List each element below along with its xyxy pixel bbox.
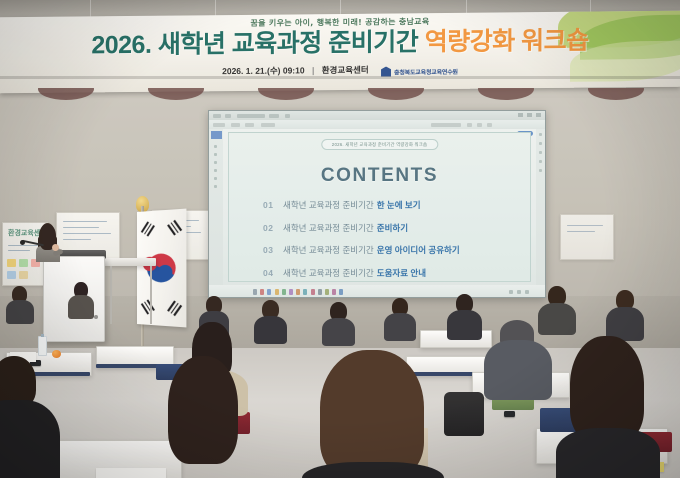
cursor-icon <box>253 289 257 295</box>
slide-canvas: 2026. 새학년 교육과정 준비기간 역량강화 워크숍 CONTENTS 01… <box>228 132 531 282</box>
toc-text: 새학년 교육과정 준비기간 <box>283 244 374 256</box>
trigram-geon <box>141 221 155 236</box>
window-controls[interactable] <box>518 113 541 117</box>
toc-text: 새학년 교육과정 준비기간 <box>283 267 374 279</box>
right-tool-pane[interactable] <box>536 129 545 285</box>
trigram-gon <box>167 300 182 316</box>
app-status-bar[interactable] <box>209 285 545 297</box>
orange-fruit <box>52 350 61 358</box>
app-menu-bar[interactable] <box>209 111 545 120</box>
toc-text: 새학년 교육과정 준비기간 <box>283 222 374 234</box>
phone <box>504 411 515 417</box>
korean-flag-icon <box>137 209 186 328</box>
chart-icon <box>289 289 293 295</box>
slide-title: CONTENTS <box>229 165 530 187</box>
table-of-contents: 01 새학년 교육과정 준비기간 한 눈에 보기 02 새학년 교육과정 준비기… <box>263 199 510 289</box>
status-tool-icons[interactable] <box>253 289 343 295</box>
banner-title-primary: 2026. 새학년 교육과정 준비기간 <box>91 28 418 59</box>
view-normal-icon <box>509 290 513 294</box>
workshop-photo-scene: 꿈을 키우는 아이, 행복한 미래! 공감하는 충남교육 2026. 새학년 교… <box>0 0 680 478</box>
poster-far-right <box>560 214 614 260</box>
table-icon <box>282 289 286 295</box>
trigram-ri <box>141 299 155 314</box>
minimize-icon[interactable] <box>518 113 523 117</box>
media-icon <box>296 289 300 295</box>
grid-icon <box>339 289 343 295</box>
projection-screen: 2026. 새학년 교육과정 준비기간 역량강화 워크숍 CONTENTS 01… <box>208 110 546 298</box>
effect-icon <box>332 289 336 295</box>
toc-text: 새학년 교육과정 준비기간 <box>283 199 374 211</box>
curtain-valance <box>0 88 680 104</box>
color-icon <box>325 289 329 295</box>
close-icon[interactable] <box>536 113 541 117</box>
slide-header-badge: 2026. 새학년 교육과정 준비기간 역량강화 워크숍 <box>321 139 438 150</box>
line-icon <box>318 289 322 295</box>
organization-logo: 충청북도교육청교육연수원 <box>381 66 458 77</box>
side-table <box>104 258 156 266</box>
toc-accent: 운영 아이디어 공유하기 <box>377 244 460 256</box>
projected-application: 2026. 새학년 교육과정 준비기간 역량강화 워크숍 CONTENTS 01… <box>209 111 545 297</box>
podium-indicator <box>94 315 98 319</box>
app-ribbon-toolbar[interactable] <box>209 120 545 129</box>
trigram-gam <box>167 220 182 236</box>
slide-thumbnail-active[interactable] <box>211 131 222 139</box>
banner-separator: | <box>312 65 314 75</box>
toc-accent: 도움자료 안내 <box>377 267 426 279</box>
toc-number: 02 <box>263 223 283 233</box>
view-sorter-icon <box>517 290 521 294</box>
banner-shadow-edge <box>0 76 680 79</box>
toc-number: 03 <box>263 245 283 255</box>
banner-title: 2026. 새학년 교육과정 준비기간 역량강화 워크숍 <box>0 28 680 60</box>
backpack <box>444 392 484 436</box>
toc-accent: 한 눈에 보기 <box>377 199 421 211</box>
event-banner: 꿈을 키우는 아이, 행복한 미래! 공감하는 충남교육 2026. 새학년 교… <box>0 11 680 94</box>
link-icon <box>303 289 307 295</box>
status-right-icons[interactable] <box>509 290 529 294</box>
text-icon <box>267 289 271 295</box>
toc-accent: 준비하기 <box>377 222 408 234</box>
list-item: 01 새학년 교육과정 준비기간 한 눈에 보기 <box>263 199 510 211</box>
list-item: 04 새학년 교육과정 준비기간 도움자료 안내 <box>263 267 510 279</box>
notebook <box>96 468 166 478</box>
presenter-hand <box>52 244 59 251</box>
view-present-icon <box>525 290 529 294</box>
toc-number: 04 <box>263 268 283 278</box>
microphone-icon <box>20 240 25 245</box>
banner-title-accent: 역량강화 워크숍 <box>425 27 589 57</box>
hand-sanitizer <box>38 336 47 356</box>
banner-date: 2026. 1. 21.(수) 09:10 <box>222 65 304 76</box>
toc-number: 01 <box>263 200 283 210</box>
shape-icon <box>260 289 264 295</box>
list-item: 02 새학년 교육과정 준비기간 준비하기 <box>263 222 510 234</box>
banner-venue: 환경교육센터 <box>322 65 369 75</box>
list-item: 03 새학년 교육과정 준비기간 운영 아이디어 공유하기 <box>263 244 510 256</box>
image-icon <box>275 289 279 295</box>
draw-icon <box>311 289 315 295</box>
slide-thumbnail-pane[interactable] <box>209 129 223 285</box>
maximize-icon[interactable] <box>527 113 532 117</box>
